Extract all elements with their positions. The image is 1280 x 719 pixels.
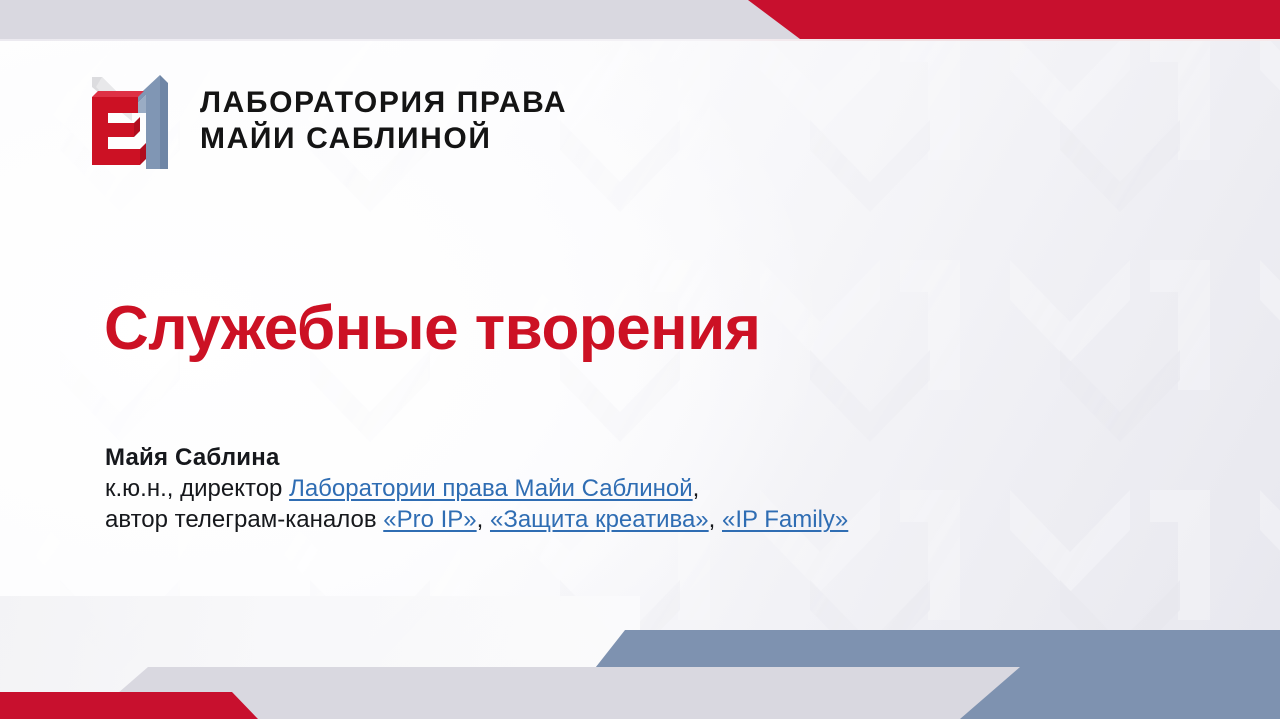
top-gray-band bbox=[0, 0, 810, 39]
brand-logo: ЛАБОРАТОРИЯ ПРАВА МАЙИ САБЛИНОЙ bbox=[92, 73, 567, 169]
channels-separator-1: , bbox=[477, 506, 490, 533]
author-block: Майя Саблина к.ю.н., директор Лаборатори… bbox=[105, 442, 848, 535]
presentation-slide: ЛАБОРАТОРИЯ ПРАВА МАЙИ САБЛИНОЙ Служебны… bbox=[0, 0, 1280, 719]
author-role-line: к.ю.н., директор Лаборатории права Майи … bbox=[105, 473, 848, 504]
author-channels-prefix: автор телеграм-каналов bbox=[105, 506, 383, 533]
lab-m-monogram-icon bbox=[92, 73, 178, 169]
link-pro-ip[interactable]: «Pro IP» bbox=[383, 506, 476, 533]
top-bar-underline bbox=[0, 39, 1280, 41]
top-decor-bar bbox=[0, 0, 1280, 40]
author-role-prefix: к.ю.н., директор bbox=[105, 475, 289, 502]
author-role-suffix: , bbox=[693, 475, 700, 502]
brand-logo-line-1: ЛАБОРАТОРИЯ ПРАВА bbox=[200, 87, 567, 119]
link-ip-family[interactable]: «IP Family» bbox=[722, 506, 848, 533]
slide-title: Служебные творения bbox=[104, 296, 760, 361]
link-zashchita-kreativa[interactable]: «Защита креатива» bbox=[490, 506, 709, 533]
link-laboratory[interactable]: Лаборатории права Майи Саблиной bbox=[289, 475, 693, 502]
author-channels-line: автор телеграм-каналов «Pro IP», «Защита… bbox=[105, 504, 848, 535]
author-name: Майя Саблина bbox=[105, 442, 848, 473]
brand-logo-line-2: МАЙИ САБЛИНОЙ bbox=[200, 123, 567, 155]
channels-separator-2: , bbox=[709, 506, 722, 533]
brand-logo-text: ЛАБОРАТОРИЯ ПРАВА МАЙИ САБЛИНОЙ bbox=[200, 87, 567, 156]
